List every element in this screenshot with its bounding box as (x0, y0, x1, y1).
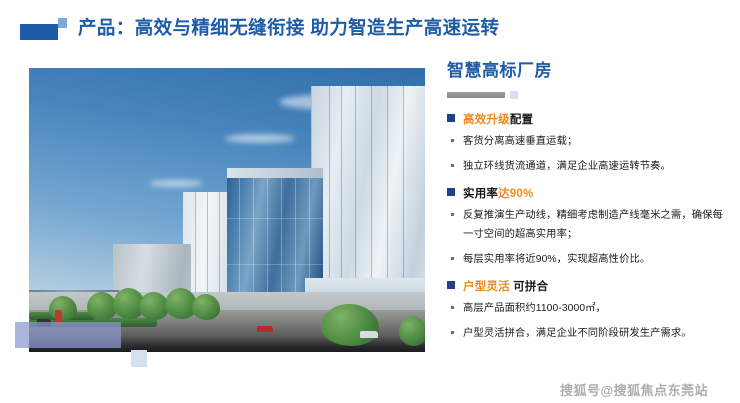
dot-bullet-icon (451, 164, 454, 167)
building-tower-main-crown (227, 168, 323, 178)
dot-bullet-icon (451, 213, 454, 216)
feature-section-header: 户型灵活 可拼合 (447, 278, 731, 294)
divider-bar (447, 92, 505, 98)
dot-bullet-icon (451, 139, 454, 142)
square-bullet-icon (447, 281, 455, 289)
square-bullet-icon (447, 188, 455, 196)
list-item-text: 户型灵活拼合，满足企业不同阶段研发生产需求。 (463, 324, 692, 343)
panel-heading: 智慧高标厂房 (447, 56, 731, 81)
feature-section-header: 实用率达90% (447, 185, 731, 201)
decor-square (131, 350, 147, 367)
list-item: 高层产品面积约1100-3000㎡， (451, 299, 731, 318)
watermark-text: 搜狐号@搜狐焦点东莞站 (560, 380, 708, 399)
feature-section: 高效升级配置 客货分离高速垂直运载； 独立环线货流通道，满足企业高速运转节奏。 (447, 111, 731, 176)
facade-line (227, 218, 323, 219)
feature-section: 实用率达90% 反复推演生产动线，精细考虑制造产线毫米之需，确保每一寸空间的超高… (447, 185, 731, 269)
car-shape (257, 326, 273, 332)
cloud-shape (225, 134, 295, 143)
cloud-shape (149, 180, 203, 187)
list-item-text: 独立环线货流通道，满足企业高速运转节奏。 (463, 157, 671, 176)
feature-section-title: 实用率达90% (463, 185, 533, 201)
list-item: 客货分离高速垂直运载； (451, 132, 731, 151)
tree-shape (321, 304, 379, 346)
square-mark-icon (20, 24, 58, 40)
feature-section-header: 高效升级配置 (447, 111, 731, 127)
smart-factory-render-image (29, 68, 425, 352)
slide-title-bar: 产品：高效与精细无缝衔接 助力智造生产高速运转 (0, 0, 740, 55)
feature-section: 户型灵活 可拼合 高层产品面积约1100-3000㎡， 户型灵活拼合，满足企业不… (447, 278, 731, 343)
square-bullet-icon (447, 114, 455, 122)
feature-section-title: 户型灵活 可拼合 (463, 278, 548, 294)
content-panel: 智慧高标厂房 高效升级配置 客货分离高速垂直运载； 独立环线货流通道，满足企业高… (447, 56, 731, 349)
page-title: 产品：高效与精细无缝衔接 助力智造生产高速运转 (78, 14, 499, 40)
facade-line (227, 264, 323, 265)
list-item: 独立环线货流通道，满足企业高速运转节奏。 (451, 157, 731, 176)
car-shape (360, 331, 378, 338)
tree-shape (49, 296, 77, 321)
list-item-text: 高层产品面积约1100-3000㎡， (463, 299, 606, 318)
divider-accent-square (510, 91, 518, 99)
dot-bullet-icon (451, 331, 454, 334)
feature-section-title: 高效升级配置 (463, 111, 533, 127)
list-item-text: 每层实用率将近90%，实现超高性价比。 (463, 250, 650, 269)
list-item-text: 反复推演生产动线，精细考虑制造产线毫米之需，确保每一寸空间的超高实用率； (463, 206, 731, 244)
tree-shape (399, 316, 425, 346)
dot-bullet-icon (451, 257, 454, 260)
list-item: 每层实用率将近90%，实现超高性价比。 (451, 250, 731, 269)
dot-bullet-icon (451, 306, 454, 309)
decor-band-rectangle (15, 322, 121, 348)
list-item: 户型灵活拼合，满足企业不同阶段研发生产需求。 (451, 324, 731, 343)
list-item-text: 客货分离高速垂直运载； (463, 132, 577, 151)
tree-shape (192, 294, 220, 320)
panel-divider (447, 91, 731, 99)
square-mark-accent-icon (58, 18, 67, 28)
list-item: 反复推演生产动线，精细考虑制造产线毫米之需，确保每一寸空间的超高实用率； (451, 206, 731, 244)
